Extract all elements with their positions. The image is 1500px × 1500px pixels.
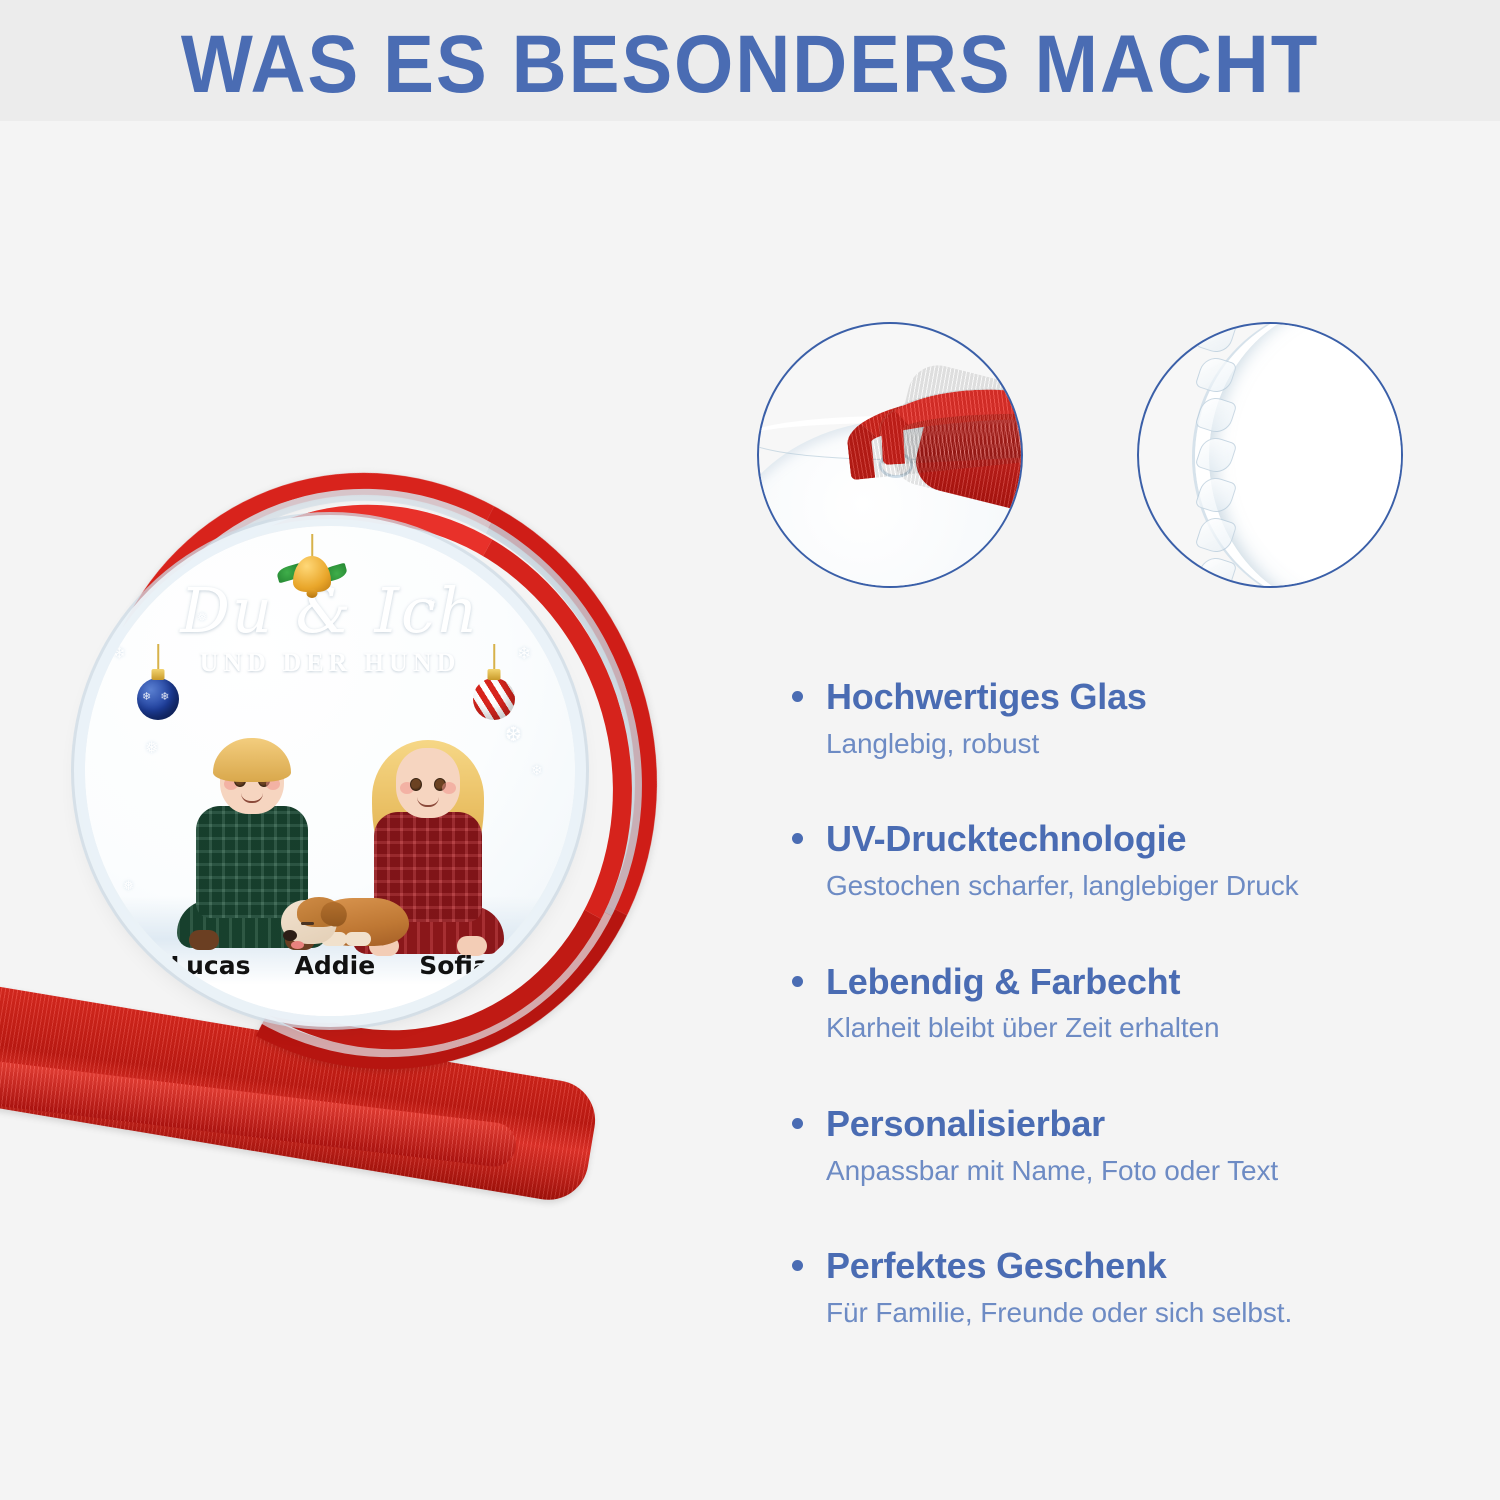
feature-item-3: Lebendig & Farbecht Klarheit bleibt über… — [780, 961, 1440, 1045]
bullet-dot-icon — [792, 1260, 803, 1271]
name-label-3: Sofia — [419, 951, 490, 980]
bell-ornament-icon — [293, 556, 331, 592]
bullet-dot-icon — [792, 833, 803, 844]
bullet-dot-icon — [792, 976, 803, 987]
striped-bauble-icon — [473, 678, 515, 720]
snowflake-icon: ❆ — [505, 722, 522, 747]
feature-item-4: Personalisierbar Anpassbar mit Name, Fot… — [780, 1103, 1440, 1187]
name-label-1: Lucas — [170, 951, 250, 980]
ornament-disc: ❄ ❅ ❆ ❄ ❅ ❆ ❄ ❅ Du & Ich UND DER HUND — [85, 526, 575, 1016]
feature-list: Hochwertiges Glas Langlebig, robust UV-D… — [780, 676, 1440, 1330]
snowflake-icon: ❅ — [145, 738, 158, 758]
feature-item-5: Perfektes Geschenk Für Familie, Freunde … — [780, 1245, 1440, 1329]
feature-title: Lebendig & Farbecht — [826, 961, 1440, 1003]
feature-title: Hochwertiges Glas — [826, 676, 1440, 718]
inset-ribbon-detail — [757, 322, 1023, 588]
feature-description: Für Familie, Freunde oder sich selbst. — [826, 1296, 1440, 1330]
feature-title: Personalisierbar — [826, 1103, 1440, 1145]
page-title: WAS ES BESONDERS MACHT — [53, 18, 1448, 112]
blue-bauble-icon — [137, 678, 179, 720]
character-dog — [281, 886, 409, 952]
inset-ribbon-strand-middle — [879, 385, 1023, 465]
bullet-dot-icon — [792, 1118, 803, 1129]
snowflake-icon: ❄ — [531, 762, 543, 779]
feature-description: Langlebig, robust — [826, 727, 1440, 761]
inset-glass-edge-detail — [1137, 322, 1403, 588]
content-stage: ❄ ❅ ❆ ❄ ❅ ❆ ❄ ❅ Du & Ich UND DER HUND — [0, 121, 1500, 1500]
snowflake-icon: ❅ — [123, 878, 134, 894]
product-image: ❄ ❅ ❆ ❄ ❅ ❆ ❄ ❅ Du & Ich UND DER HUND — [0, 461, 700, 1141]
feature-title: Perfektes Geschenk — [826, 1245, 1440, 1287]
feature-item-1: Hochwertiges Glas Langlebig, robust — [780, 676, 1440, 760]
feature-description: Klarheit bleibt über Zeit erhalten — [826, 1011, 1440, 1045]
feature-description: Anpassbar mit Name, Foto oder Text — [826, 1154, 1440, 1188]
feature-item-2: UV-Drucktechnologie Gestochen scharfer, … — [780, 818, 1440, 902]
bullet-dot-icon — [792, 691, 803, 702]
inset-edge-facets — [1193, 322, 1263, 588]
feature-description: Gestochen scharfer, langlebiger Druck — [826, 869, 1440, 903]
personalized-names-row: Lucas Addie Sofia — [85, 951, 575, 980]
name-label-2: Addie — [295, 951, 376, 980]
feature-title: UV-Drucktechnologie — [826, 818, 1440, 860]
